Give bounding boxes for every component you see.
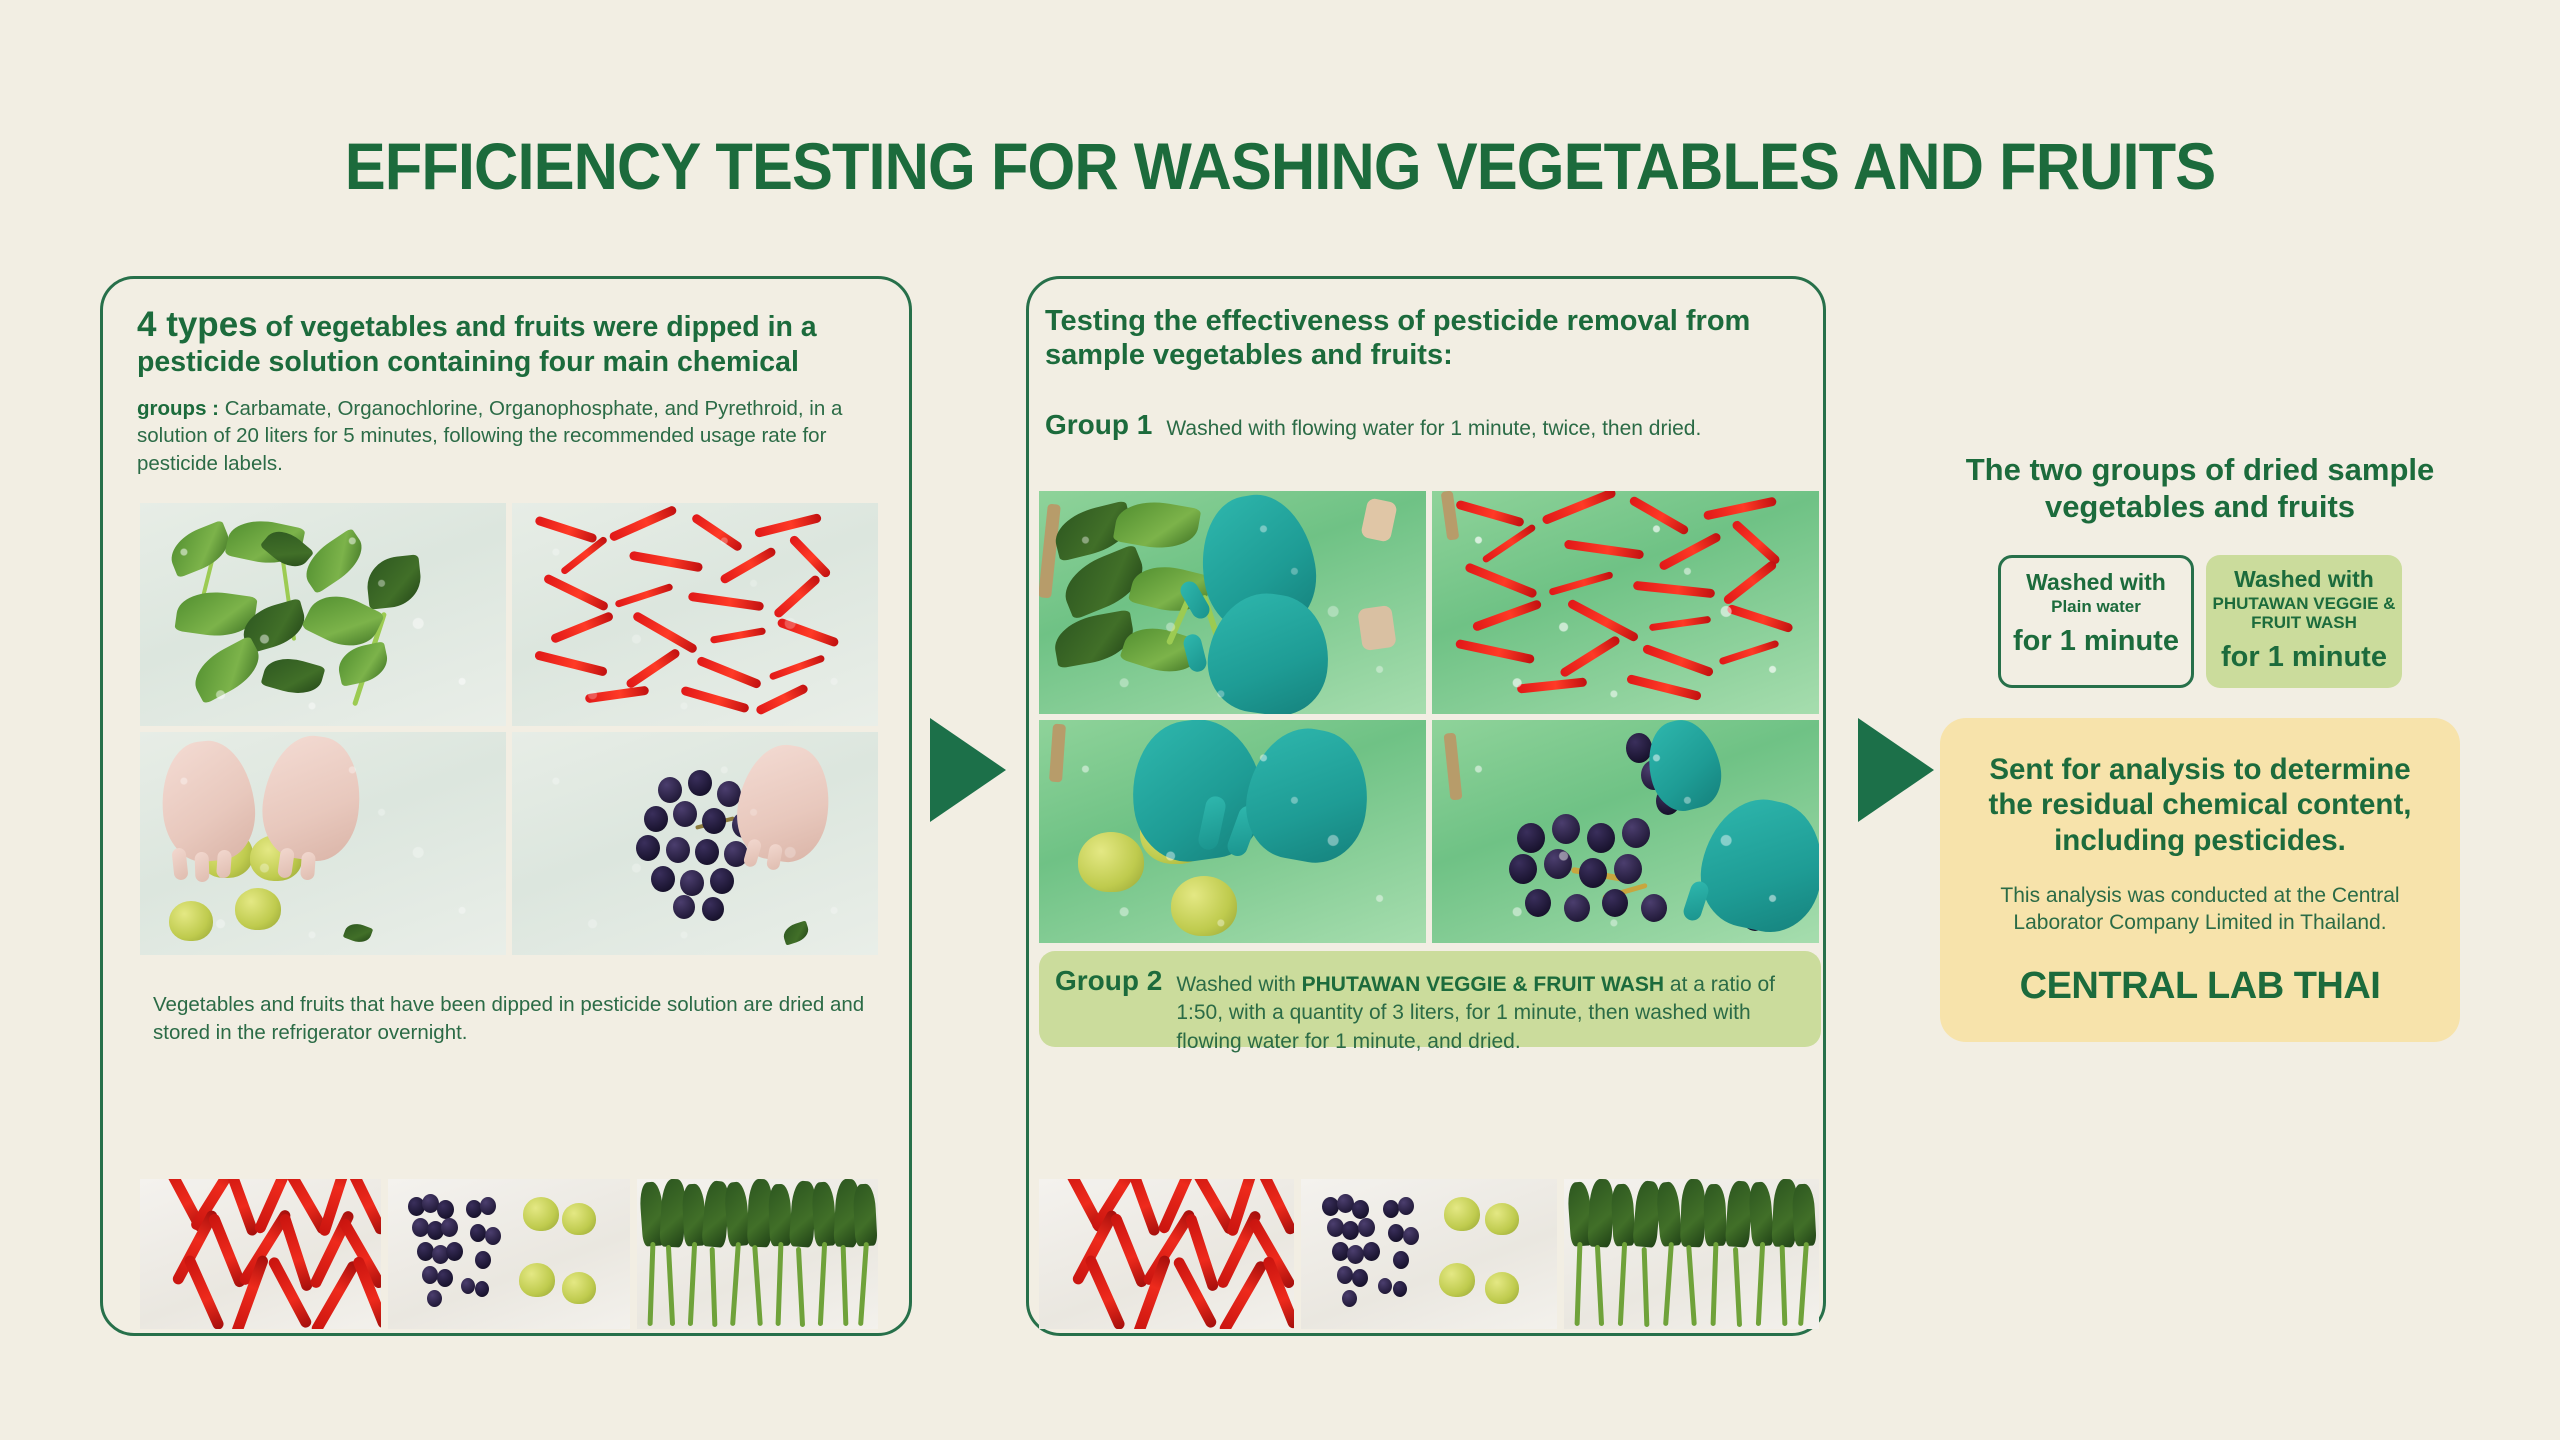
panel-step-2-washing: Testing the effectiveness of pesticide r…	[1026, 276, 1826, 1336]
pill-phutawan-line3: for 1 minute	[2212, 642, 2396, 674]
photo-dried-chillies-tray	[140, 1179, 381, 1329]
page-title: EFFICIENCY TESTING FOR WASHING VEGETABLE…	[90, 128, 2471, 204]
photo-gloved-hands-guavas-white-tub	[140, 732, 506, 955]
infographic-canvas: EFFICIENCY TESTING FOR WASHING VEGETABLE…	[0, 0, 2560, 1440]
pill-plain-water-line3: for 1 minute	[2007, 626, 2185, 658]
photo-red-chillies-white-tub	[512, 503, 878, 726]
pill-phutawan-line2: PHUTAWAN VEGGIE & FRUIT WASH	[2212, 594, 2396, 632]
arrow-right-step-1-icon	[930, 718, 1006, 822]
photo-dried-leafy-greens-tray	[637, 1179, 878, 1329]
comparison-pills: Washed with Plain water for 1 minute Was…	[1940, 555, 2460, 688]
analysis-card: Sent for analysis to determine the resid…	[1940, 718, 2460, 1042]
pill-phutawan-line1: Washed with	[2212, 567, 2396, 593]
arrow-right-step-2-icon	[1858, 718, 1934, 822]
mid-photo-grid	[1039, 491, 1819, 943]
photo-washing-guavas-green-tub	[1039, 720, 1426, 943]
left-lead-strong: 4 types	[137, 305, 258, 344]
analysis-body: This analysis was conducted at the Centr…	[1966, 882, 2434, 937]
photo-chillies-green-tub-foam	[1432, 491, 1819, 714]
left-sub-label: groups :	[137, 397, 225, 420]
panel-step-3-analysis: The two groups of dried sample vegetable…	[1940, 452, 2460, 1042]
pill-plain-water: Washed with Plain water for 1 minute	[1998, 555, 2194, 688]
group2-text-part1: Washed with	[1176, 973, 1301, 996]
mid-dried-strip	[1039, 1179, 1819, 1329]
photo-dried-grapes-guavas-tray	[388, 1179, 629, 1329]
group2-label: Group 2	[1055, 965, 1162, 997]
left-sub-body: Carbamate, Organochlorine, Organophospha…	[137, 397, 842, 475]
photo-dried-chillies-tray	[1039, 1179, 1294, 1329]
pill-plain-water-line1: Washed with	[2007, 570, 2185, 596]
analysis-lab-name: CENTRAL LAB THAI	[1966, 965, 2434, 1008]
left-photo-grid	[140, 503, 878, 955]
photo-dried-grapes-guavas-tray	[1301, 1179, 1556, 1329]
group1-row: Group 1 Washed with flowing water for 1 …	[1045, 409, 1817, 443]
photo-washing-grapes-green-tub	[1432, 720, 1819, 943]
photo-leafy-greens-white-tub	[140, 503, 506, 726]
left-lead-text: 4 types of vegetables and fruits were di…	[123, 305, 903, 379]
photo-gloved-hand-grapes-white-tub	[512, 732, 878, 955]
group2-text: Washed with PHUTAWAN VEGGIE & FRUIT WASH…	[1176, 965, 1805, 1056]
mid-heading: Testing the effectiveness of pesticide r…	[1045, 305, 1815, 373]
right-heading: The two groups of dried sample vegetable…	[1940, 452, 2460, 525]
panel-step-1-dipping: 4 types of vegetables and fruits were di…	[100, 276, 912, 1336]
group2-product-name: PHUTAWAN VEGGIE & FRUIT WASH	[1302, 973, 1664, 996]
group1-text: Washed with flowing water for 1 minute, …	[1166, 409, 1701, 443]
left-sub-text: groups : Carbamate, Organochlorine, Orga…	[137, 395, 907, 477]
left-dried-strip	[140, 1179, 878, 1329]
pill-phutawan-wash: Washed with PHUTAWAN VEGGIE & FRUIT WASH…	[2206, 555, 2402, 688]
pill-plain-water-line2: Plain water	[2007, 597, 2185, 616]
analysis-headline: Sent for analysis to determine the resid…	[1966, 752, 2434, 858]
photo-dried-leafy-greens-tray	[1564, 1179, 1819, 1329]
photo-washing-leafy-greens-green-tub	[1039, 491, 1426, 714]
left-dried-caption: Vegetables and fruits that have been dip…	[153, 991, 883, 1048]
group2-callout: Group 2 Washed with PHUTAWAN VEGGIE & FR…	[1039, 951, 1821, 1047]
group1-label: Group 1	[1045, 409, 1152, 441]
